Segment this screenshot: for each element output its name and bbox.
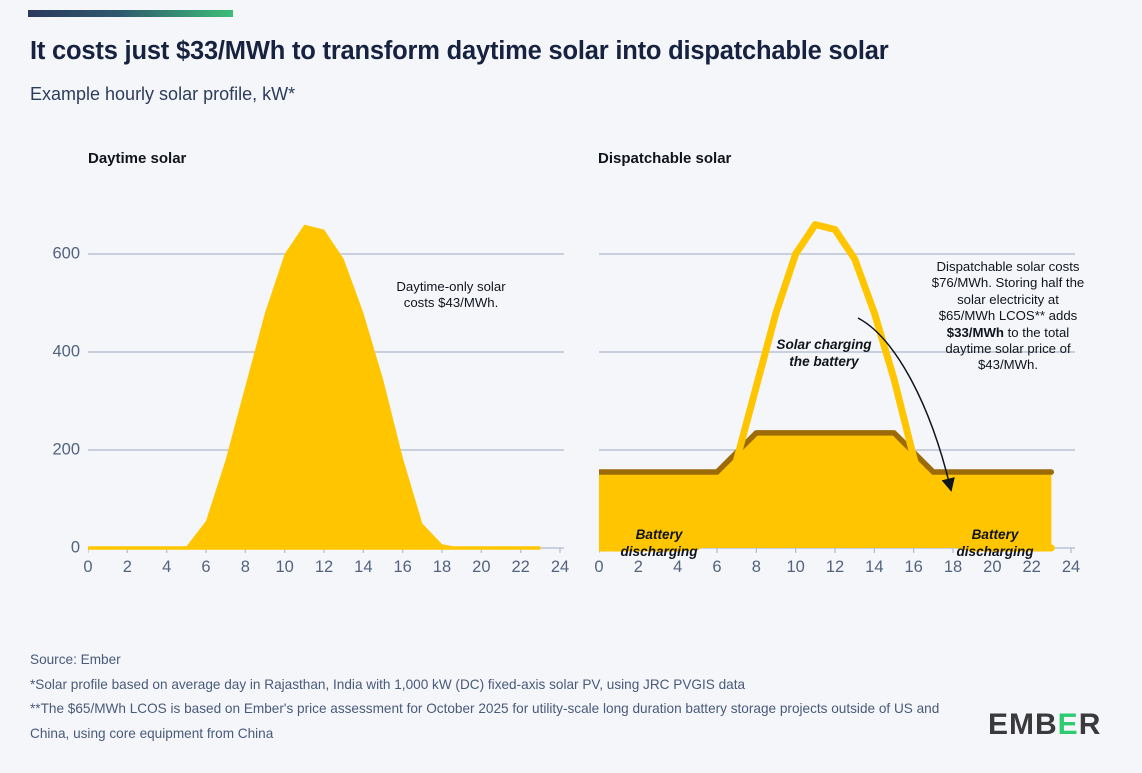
page-title: It costs just $33/MWh to transform dayti… [30,37,888,66]
y-tick-label: 600 [30,245,80,264]
footer-note-2: **The $65/MWh LCOS is based on Ember's p… [30,697,960,746]
x-tick-label: 20 [983,558,1001,577]
x-tick-label: 18 [944,558,962,577]
x-tick-label: 10 [786,558,804,577]
annotation-dispatchable-cost: Dispatchable solar costs $76/MWh. Storin… [928,259,1088,374]
x-tick-label: 0 [594,558,603,577]
chart-title-right: Dispatchable solar [598,150,731,167]
x-tick-label: 24 [551,558,569,577]
footer-note-1: *Solar profile based on average day in R… [30,673,960,698]
x-tick-label: 12 [826,558,844,577]
x-tick-label: 0 [83,558,92,577]
x-tick-label: 14 [354,558,372,577]
x-tick-label: 14 [865,558,883,577]
x-tick-label: 24 [1062,558,1080,577]
logo-text-part3: R [1079,708,1102,742]
annotation-daytime-cost: Daytime-only solar costs $43/MWh. [380,279,522,312]
infographic-page: It costs just $33/MWh to transform dayti… [0,0,1142,773]
ember-logo: EMBER [988,708,1101,742]
x-tick-label: 4 [673,558,682,577]
page-subtitle: Example hourly solar profile, kW* [30,84,295,105]
y-tick-label: 200 [30,441,80,460]
x-tick-label: 22 [511,558,529,577]
daytime-solar-svg [88,205,566,595]
x-tick-label: 18 [433,558,451,577]
logo-text-part1: EMB [988,708,1058,742]
x-tick-label: 12 [315,558,333,577]
x-tick-label: 20 [472,558,490,577]
x-tick-label: 2 [634,558,643,577]
x-tick-label: 8 [752,558,761,577]
chart-title-left: Daytime solar [88,150,186,167]
label-battery-discharging-morning: Battery discharging [600,527,718,560]
x-tick-label: 16 [393,558,411,577]
y-tick-label: 0 [30,539,80,558]
x-tick-label: 6 [712,558,721,577]
footer-notes: Source: Ember *Solar profile based on av… [30,648,960,746]
logo-text-accent: E [1058,708,1079,742]
x-tick-label: 2 [123,558,132,577]
x-tick-label: 4 [162,558,171,577]
x-tick-label: 16 [904,558,922,577]
footer-source: Source: Ember [30,648,960,673]
x-tick-label: 22 [1022,558,1040,577]
y-tick-label: 400 [30,343,80,362]
x-tick-label: 6 [201,558,210,577]
accent-gradient-bar [28,10,233,17]
label-solar-charging: Solar charging the battery [770,337,878,370]
annotation-text-part1: Dispatchable solar costs $76/MWh. Storin… [932,259,1084,323]
chart-daytime-solar [88,205,566,595]
x-tick-label: 8 [241,558,250,577]
x-tick-label: 10 [275,558,293,577]
label-battery-discharging-evening: Battery discharging [936,527,1054,560]
annotation-highlight-value: $33/MWh [947,325,1004,340]
